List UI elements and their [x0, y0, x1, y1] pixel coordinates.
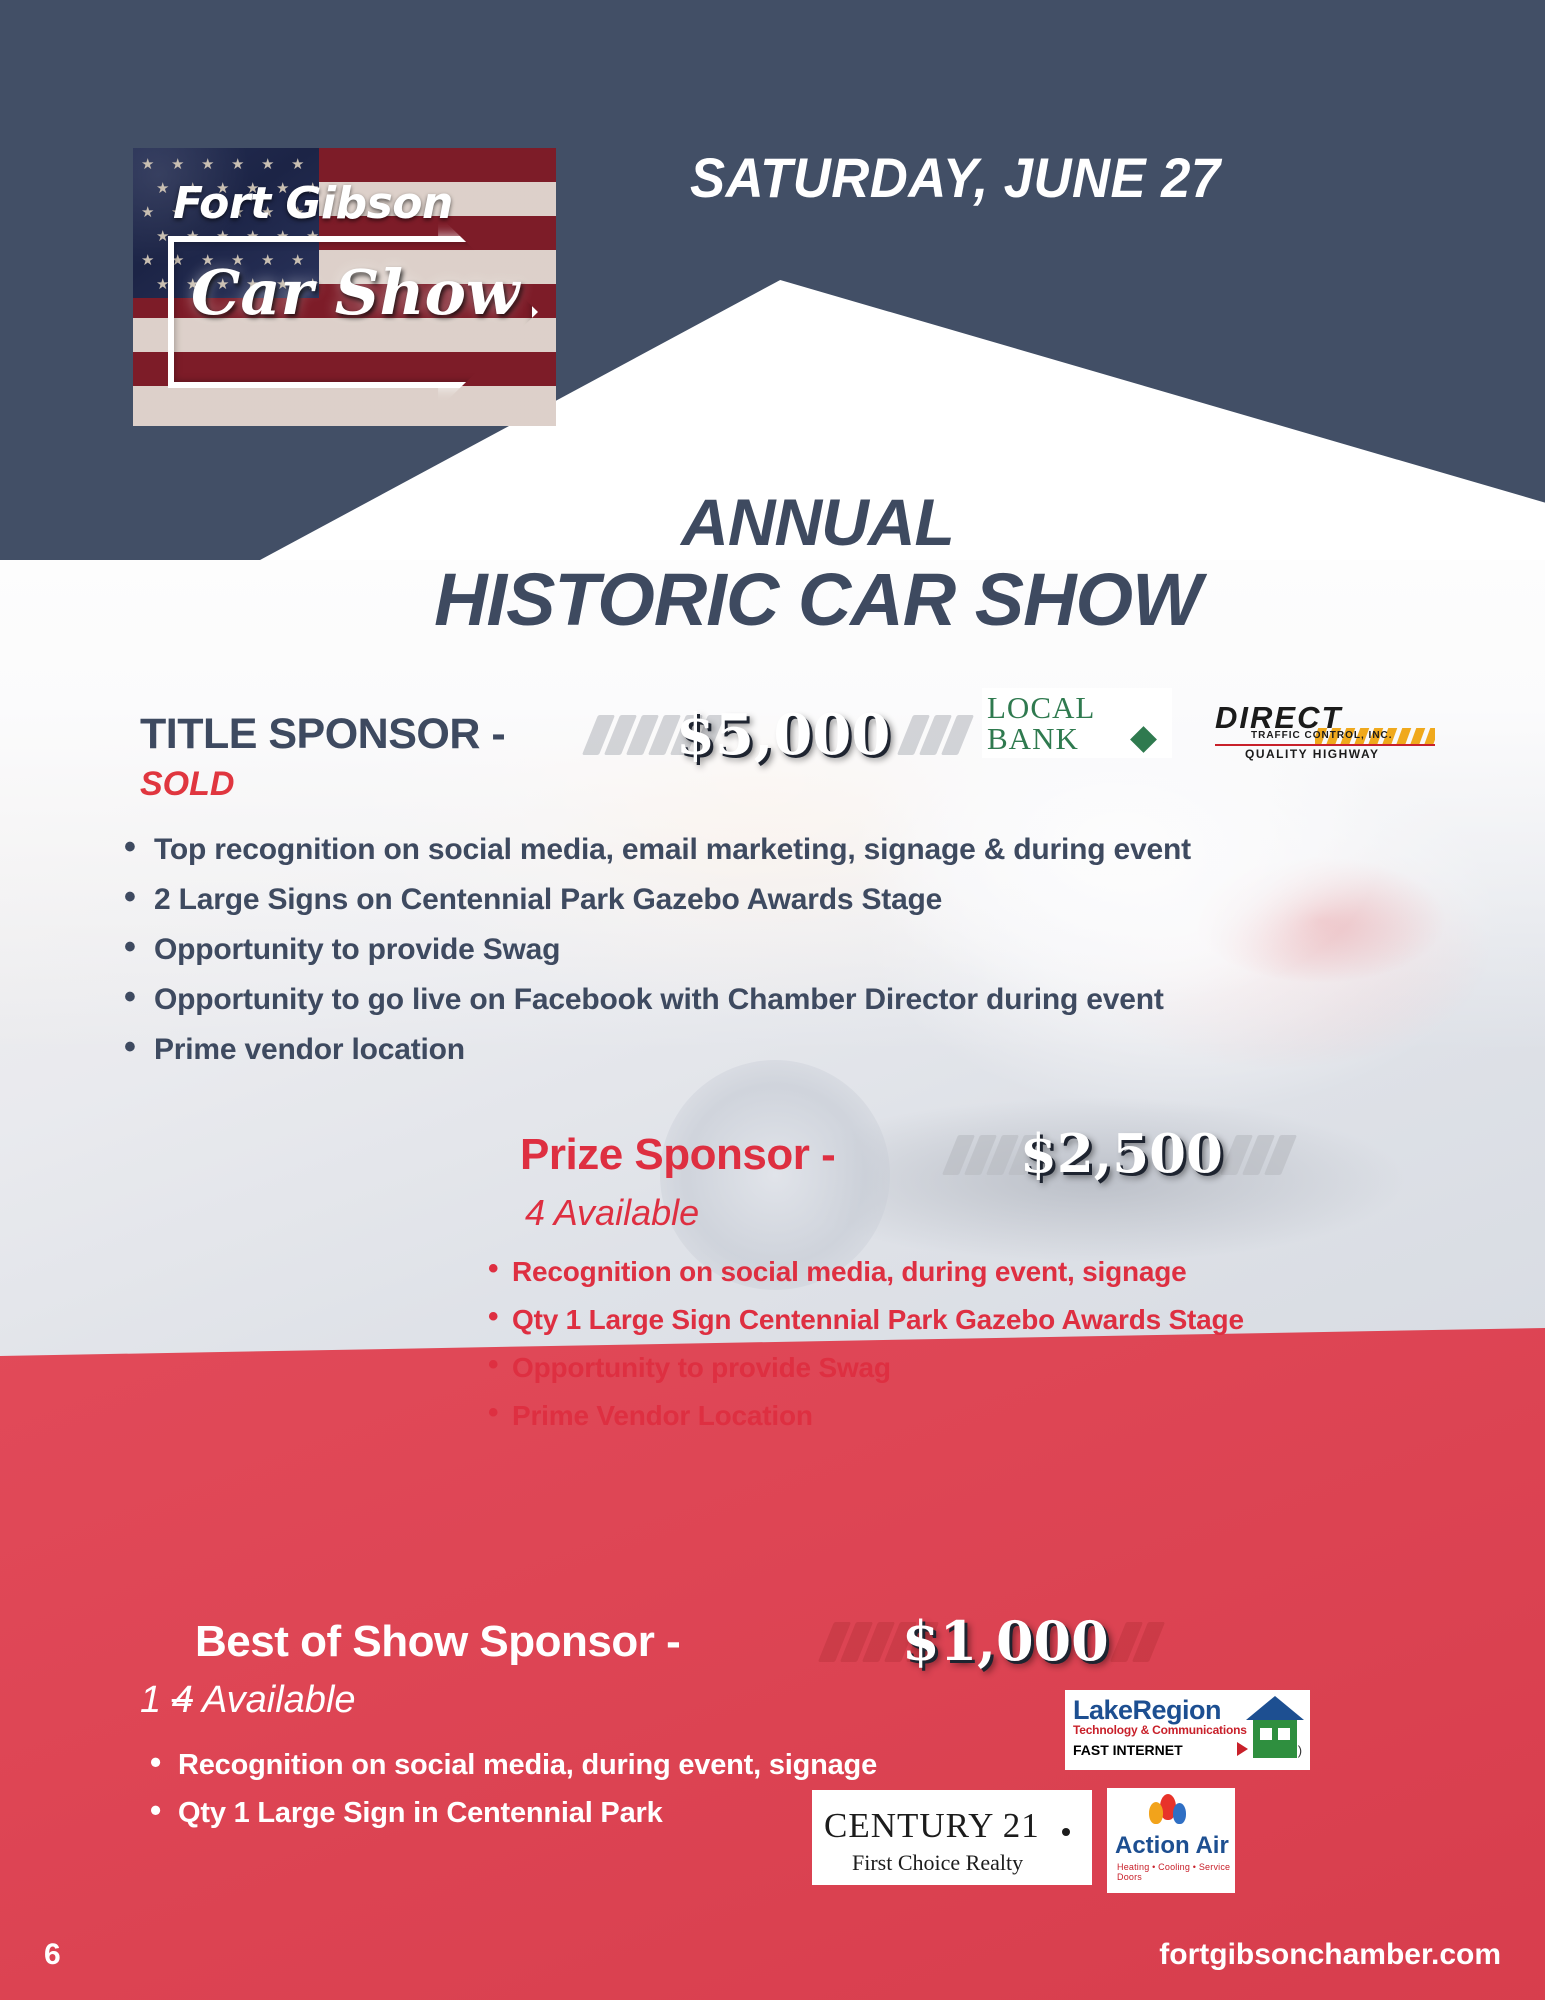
event-date: SATURDAY, JUNE 27 [690, 145, 1221, 210]
tier-prize-sponsor-name: Prize Sponsor - [520, 1130, 835, 1180]
page-title-line1: ANNUAL [0, 485, 1545, 559]
website-url: fortgibsonchamber.com [1159, 1938, 1501, 1972]
tier-best-of-show-name: Best of Show Sponsor - [195, 1617, 680, 1667]
action-air-line1: Action Air [1115, 1832, 1229, 1860]
flame-icon [1147, 1794, 1189, 1830]
page-number: 6 [44, 1938, 61, 1972]
sponsor-logo-local-bank: LOCAL BANK [982, 688, 1172, 758]
local-bank-line2: BANK [987, 721, 1079, 757]
car-show-logo: ★★★★★★★★★★★★★★★★★★★★★★★★★★★★★★★★★★★★ For… [133, 148, 556, 426]
lake-region-line3: FAST INTERNET [1073, 1742, 1183, 1758]
tier-title-sponsor-name: TITLE SPONSOR - [140, 710, 505, 759]
century21-line1: CENTURY 21 [824, 1806, 1040, 1846]
logo-subtitle-text: Car Show [191, 256, 521, 329]
list-item: Prime Vendor Location [480, 1399, 1500, 1433]
tier-best-of-show-availability: 1 4 Available [140, 1679, 356, 1722]
direct-line2: TRAFFIC CONTROL, INC. [1251, 730, 1393, 741]
availability-suffix: Available [202, 1679, 356, 1721]
diamond-icon [1130, 726, 1157, 753]
logo-title-text: Fort Gibson [173, 178, 533, 229]
flag-star-icon: ★ [141, 158, 154, 171]
list-item: Opportunity to provide Swag [480, 1351, 1500, 1385]
tier-best-of-show-price: $1,000 [902, 1609, 1109, 1673]
list-item: Recognition on social media, during even… [140, 1747, 1010, 1783]
flag-star-icon: ★ [156, 230, 169, 243]
lake-region-line2: Technology & Communications [1073, 1723, 1247, 1737]
flyer-page: ★★★★★★★★★★★★★★★★★★★★★★★★★★★★★★★★★★★★ For… [0, 0, 1545, 2000]
tier-title-sponsor-benefits: Top recognition on social media, email m… [112, 832, 1432, 1082]
list-item: Opportunity to go live on Facebook with … [112, 982, 1432, 1018]
century21-line2: First Choice Realty [852, 1850, 1023, 1876]
tier-title-sponsor-status: SOLD [140, 765, 234, 804]
tier-prize-sponsor-benefits: Recognition on social media, during even… [480, 1255, 1500, 1447]
direct-line3: QUALITY HIGHWAY SAFETY [1245, 747, 1435, 762]
flag-star-icon: ★ [201, 158, 214, 171]
flag-star-icon: ★ [291, 158, 304, 171]
tier-title-sponsor-price: $5,000 [676, 702, 890, 768]
flag-star-icon: ★ [261, 158, 274, 171]
flag-star-icon: ★ [156, 278, 169, 291]
tier-prize-sponsor-price: $2,500 [1020, 1123, 1223, 1185]
page-title: ANNUAL HISTORIC CAR SHOW [0, 485, 1545, 641]
flag-star-icon: ★ [171, 158, 184, 171]
availability-current: 1 [140, 1679, 161, 1721]
tier-prize-sponsor-availability: 4 Available [525, 1192, 699, 1234]
flag-star-icon: ★ [141, 206, 154, 219]
house-icon [1246, 1696, 1304, 1758]
flag-star-icon: ★ [156, 182, 169, 195]
page-title-line2: HISTORIC CAR SHOW [0, 559, 1545, 641]
flag-star-icon: ★ [231, 158, 244, 171]
list-item: Top recognition on social media, email m… [112, 832, 1432, 868]
list-item: Opportunity to provide Swag [112, 932, 1432, 968]
flag-star-icon: ★ [141, 254, 154, 267]
action-air-line2: Heating • Cooling • Service Doors [1117, 1862, 1235, 1882]
list-item: Prime vendor location [112, 1032, 1432, 1068]
list-item: 2 Large Signs on Centennial Park Gazebo … [112, 882, 1432, 918]
lake-region-line1: LakeRegion [1073, 1695, 1221, 1726]
century21-dot-icon [1062, 1828, 1070, 1836]
list-item: Qty 1 Large Sign Centennial Park Gazebo … [480, 1303, 1500, 1337]
list-item: Recognition on social media, during even… [480, 1255, 1500, 1289]
direct-red-bar [1215, 744, 1435, 746]
sponsor-logo-lake-region: LakeRegion Technology & Communications F… [1065, 1690, 1310, 1770]
sponsor-logo-action-air: Action Air Heating • Cooling • Service D… [1107, 1788, 1235, 1893]
availability-struck: 4 [172, 1679, 193, 1721]
sponsor-logo-direct-traffic-control: DIRECT TRAFFIC CONTROL, INC. QUALITY HIG… [1215, 700, 1435, 762]
sponsor-logo-century21: CENTURY 21 First Choice Realty [812, 1790, 1092, 1885]
